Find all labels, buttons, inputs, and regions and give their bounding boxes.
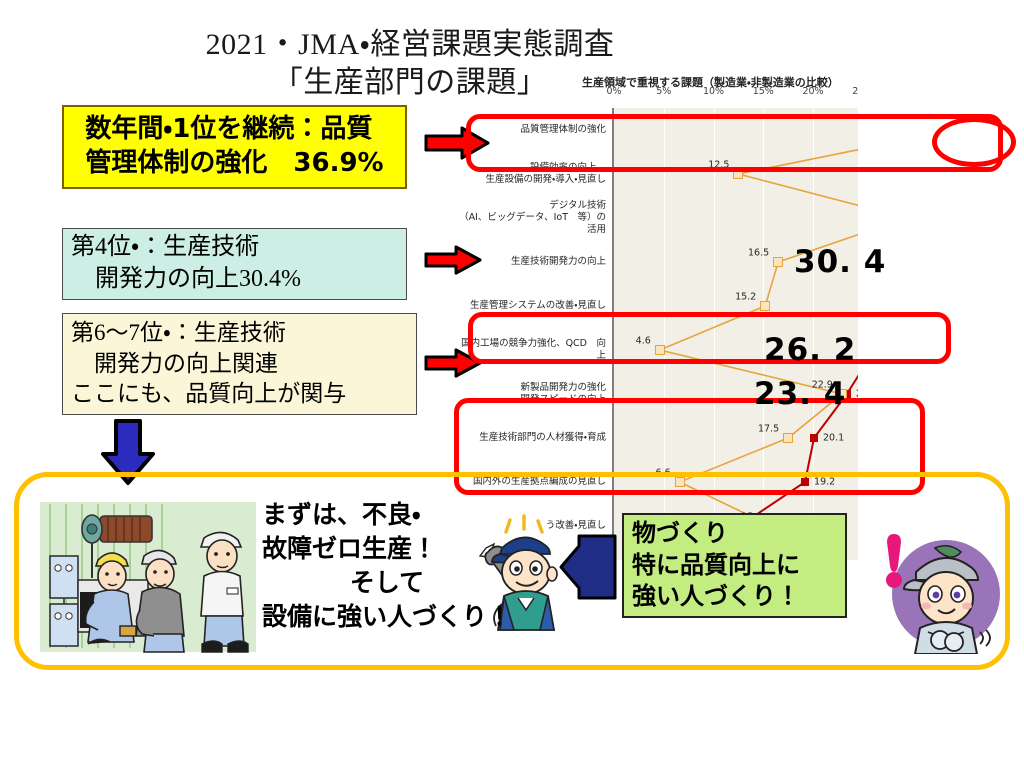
bottom-text-line-3: そして: [262, 566, 512, 600]
data-point: [773, 257, 783, 267]
x-tick-label: 15%: [753, 86, 774, 97]
factory-workers-illustration: [36, 498, 260, 654]
callout-teal-line-2: 開発力の向上30.4%: [71, 264, 301, 296]
callout-rank-6-7-tech: 第6〜7位・：生産技術 開発力の向上関連 ここにも、品質向上が関与: [62, 313, 417, 415]
bottom-text-line-4: 設備に強い人づくり！: [262, 600, 512, 634]
highlight-box-quality: [466, 114, 1003, 172]
female-worker-illustration: [880, 528, 1000, 654]
callout-yellow-line-1: 数年間・1位を継続：品質: [85, 113, 383, 147]
callout-cream-line-1: 第6〜7位・：生産技術: [71, 318, 346, 349]
chart-big-annotation: 23. 4: [754, 376, 846, 412]
red-arrow-to-tech-icon: [424, 245, 482, 275]
callout-cream-line-3: ここにも、品質向上が関与: [71, 379, 346, 410]
title-line-1: 2021・JMA・経営課題実態調査: [150, 26, 670, 64]
x-tick-label: 5%: [656, 86, 671, 97]
bottom-message-text: まずは、不良・ 故障ゼロ生産！ そして 設備に強い人づくり！: [262, 498, 512, 634]
x-tick-label: 0%: [606, 86, 621, 97]
callout-rank-1-quality: 数年間・1位を継続：品質 管理体制の強化 36.9%: [62, 105, 407, 189]
chart-big-annotation: 30. 4: [794, 244, 886, 280]
bottom-text-line-1: まずは、不良・: [262, 498, 512, 532]
category-label: デジタル技術 （AI、ビッグデータ、IoT 等）の活用: [456, 200, 614, 236]
data-point-label: 16.5: [748, 248, 769, 259]
category-label: 生産管理システムの改善・見直し: [456, 300, 614, 312]
callout-green-line-2: 特に品質向上に: [632, 550, 800, 582]
callout-monozukuri: 物づくり 特に品質向上に 強い人づくり！: [622, 513, 847, 618]
callout-yellow-line-2: 管理体制の強化 36.9%: [85, 147, 383, 181]
callout-teal-line-1: 第4位・：生産技術: [71, 232, 301, 264]
callout-cream-line-2: 開発力の向上関連: [71, 349, 346, 380]
chart-big-annotation: 26. 2: [764, 332, 856, 368]
bottom-text-line-2: 故障ゼロ生産！: [262, 532, 512, 566]
data-point-label: 15.2: [735, 292, 756, 303]
data-point: [760, 301, 770, 311]
callout-green-line-1: 物づくり: [632, 518, 800, 550]
highlight-box-tech-dev: [468, 312, 951, 364]
callout-rank-4-tech: 第4位・：生産技術 開発力の向上30.4%: [62, 228, 407, 300]
highlight-oval-369: [932, 117, 1016, 167]
x-tick-label: 10%: [703, 86, 724, 97]
x-tick-label: 20%: [802, 86, 823, 97]
callout-green-line-3: 強い人づくり！: [632, 581, 800, 613]
